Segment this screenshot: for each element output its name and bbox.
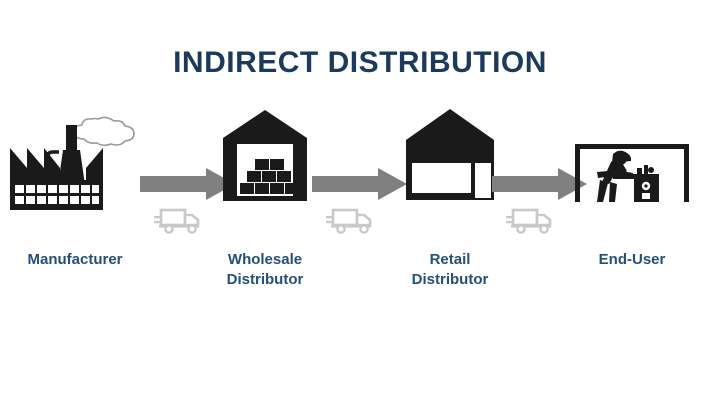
flow-node-label-end-user: End-User (557, 250, 707, 270)
flow-node-label-wholesale-distributor: Wholesale Distributor (190, 250, 340, 291)
customer-counter-icon (557, 100, 707, 218)
diagram-canvas: INDIRECT DISTRIBUTION (0, 0, 720, 403)
delivery-truck-icon (506, 206, 558, 236)
factory-icon (0, 100, 150, 218)
flow-node-label-manufacturer: Manufacturer (0, 250, 150, 270)
flow-node-manufacturer: Manufacturer (0, 100, 150, 250)
flow-node-end-user: End-User (557, 100, 707, 250)
page-title: INDIRECT DISTRIBUTION (0, 46, 720, 80)
delivery-truck-icon (326, 206, 378, 236)
flow-node-label-retail-distributor: Retail Distributor (375, 250, 525, 291)
